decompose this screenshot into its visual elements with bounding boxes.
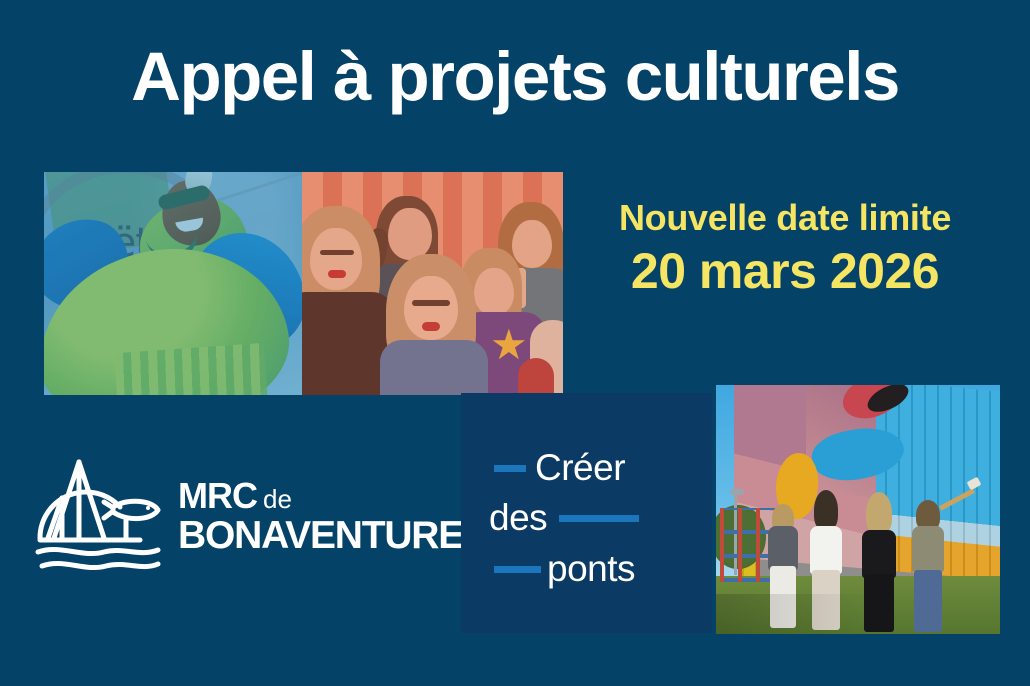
photo-strip: frëtt bbox=[44, 172, 563, 395]
sailboat-fish-waves-icon bbox=[34, 454, 164, 580]
mrc-region-name: BONAVENTURE bbox=[178, 516, 463, 557]
creer-des-ponts-logo: Créer des ponts bbox=[461, 393, 712, 633]
dash-icon bbox=[559, 515, 639, 522]
dancer-light-tint bbox=[44, 172, 302, 395]
deadline-date: 20 mars 2026 bbox=[575, 244, 995, 299]
cdp-word-des: des bbox=[489, 497, 547, 539]
cdp-row-ponts: ponts bbox=[494, 548, 635, 590]
mrc-de: de bbox=[263, 486, 292, 512]
deadline-label: Nouvelle date limite bbox=[575, 198, 995, 238]
dash-icon bbox=[494, 465, 526, 472]
mrc-line1-row: MRC de bbox=[178, 478, 463, 514]
mrc-acronym: MRC bbox=[178, 478, 257, 514]
cdp-word-creer: Créer bbox=[535, 447, 625, 489]
painter-4-shirt bbox=[912, 526, 944, 572]
cdp-row-creer: Créer bbox=[494, 447, 625, 489]
painter-3-shirt bbox=[862, 530, 896, 578]
painter-1-shirt bbox=[768, 526, 798, 570]
painter-2-hair bbox=[814, 490, 838, 530]
cdp-row-des: des bbox=[489, 497, 639, 539]
kids-warm-tint bbox=[302, 172, 563, 395]
cdp-word-ponts: ponts bbox=[547, 548, 635, 590]
dash-icon bbox=[494, 566, 541, 573]
page-title: Appel à projets culturels bbox=[0, 42, 1030, 111]
deadline-block: Nouvelle date limite 20 mars 2026 bbox=[575, 198, 995, 299]
mural-lamppost-head bbox=[730, 489, 744, 495]
painter-3-hair bbox=[866, 492, 892, 534]
creer-des-ponts-inner: Créer des ponts bbox=[461, 393, 712, 633]
mural-shadow-overlay bbox=[716, 594, 1000, 634]
poster-canvas: Appel à projets culturels frëtt bbox=[0, 0, 1030, 686]
painter-2-shirt bbox=[810, 526, 842, 574]
photo-children-dance-class: ★ bbox=[302, 172, 563, 395]
mrc-bonaventure-logo: MRC de BONAVENTURE bbox=[34, 452, 444, 582]
photo-dancer: frëtt bbox=[44, 172, 302, 395]
mrc-wordmark: MRC de BONAVENTURE bbox=[178, 478, 463, 557]
photo-mural-painting bbox=[716, 385, 1000, 634]
